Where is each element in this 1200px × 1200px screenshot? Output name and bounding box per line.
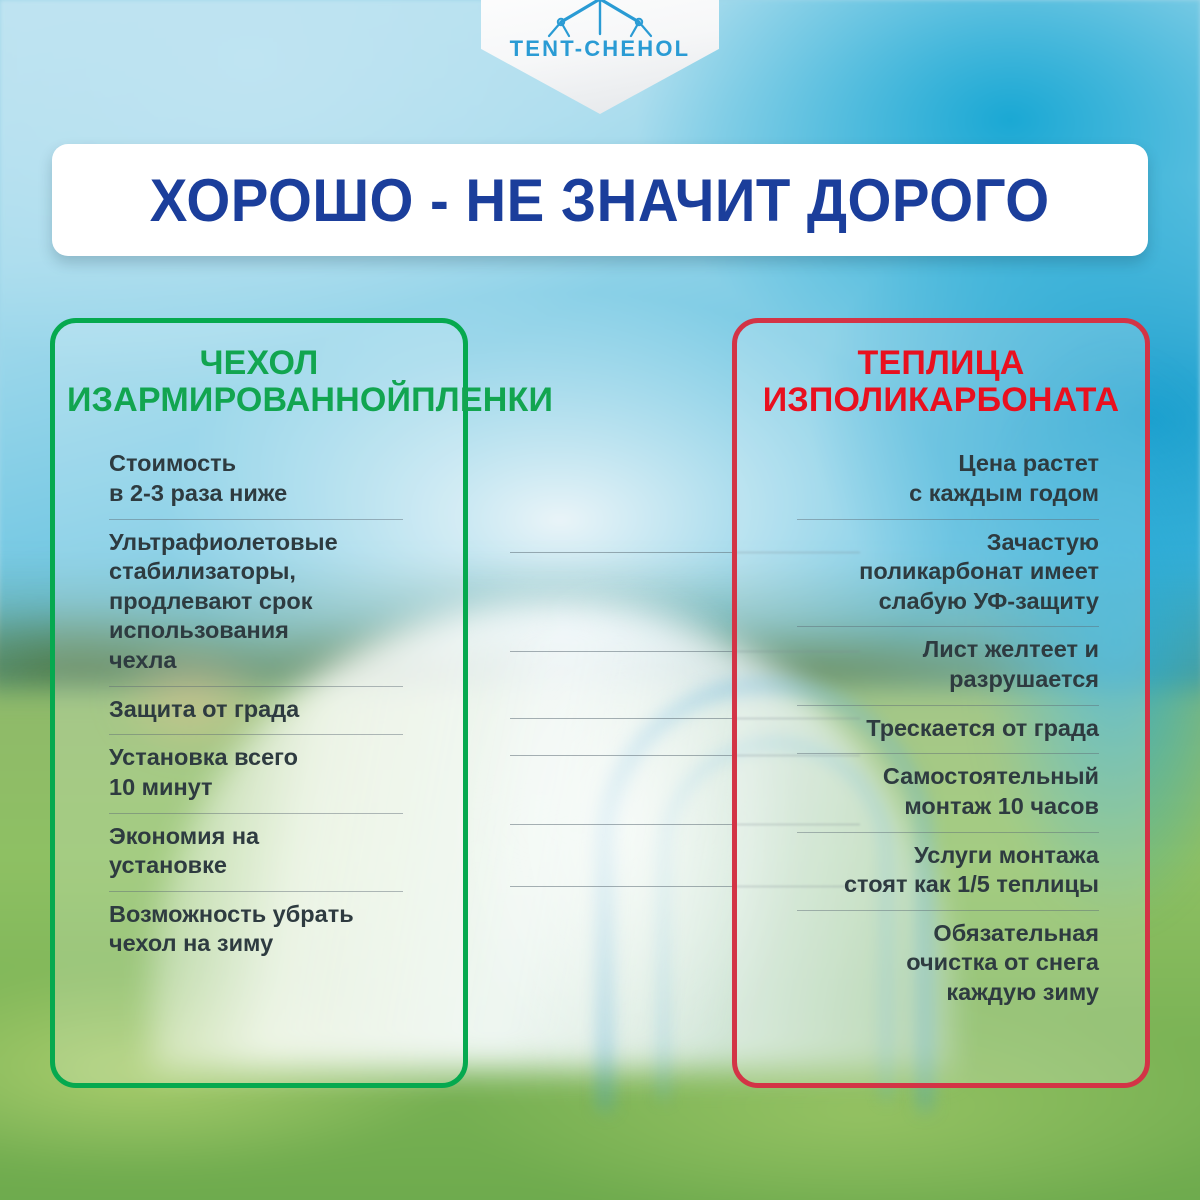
card-title-polycarbonate: ТЕПЛИЦА ИЗПОЛИКАРБОНАТА [737, 323, 1145, 418]
feature-item-line: Самостоятельный [763, 762, 1099, 792]
feature-item: Возможность убратьчехол на зиму [109, 891, 437, 969]
feature-item-line: в 2-3 раза ниже [109, 479, 437, 509]
feature-item-line: разрушается [763, 665, 1099, 695]
feature-item-line: Лист желтеет и [763, 635, 1099, 665]
feature-item-line: Установка всего [109, 743, 437, 773]
feature-item-line: Услуги монтажа [763, 841, 1099, 871]
feature-item: Ультрафиолетовыестабилизаторы,продлевают… [109, 519, 437, 686]
feature-item-line: стоят как 1/5 теплицы [763, 870, 1099, 900]
feature-item: Зачастуюполикарбонат имеетслабую УФ-защи… [763, 519, 1099, 627]
feature-item-line: Зачастую [763, 528, 1099, 558]
feature-item: Стоимостьв 2-3 раза ниже [109, 440, 437, 518]
feature-item-line: стабилизаторы, [109, 557, 437, 587]
feature-item: Обязательнаяочистка от снегакаждую зиму [763, 910, 1099, 1018]
feature-item-line: установке [109, 851, 437, 881]
feature-item: Услуги монтажастоят как 1/5 теплицы [763, 832, 1099, 910]
feature-item: Экономия наустановке [109, 813, 437, 891]
feature-item: Защита от града [109, 686, 437, 735]
card-title-line: ПОЛИКАРБОНАТА [809, 381, 1119, 419]
feature-item-line: очистка от снега [763, 948, 1099, 978]
feature-item-line: Трескается от града [763, 714, 1099, 744]
feature-item-line: каждую зиму [763, 978, 1099, 1008]
comparison-card-polycarbonate: ТЕПЛИЦА ИЗПОЛИКАРБОНАТА Цена растетс каж… [732, 318, 1150, 1088]
tent-icon [525, 0, 675, 36]
feature-item-line: Экономия на [109, 822, 437, 852]
feature-item-line: Возможность убрать [109, 900, 437, 930]
feature-item: Цена растетс каждым годом [763, 440, 1099, 518]
feature-item: Самостоятельныймонтаж 10 часов [763, 753, 1099, 831]
card-title-line: АРМИРОВАННОЙ [113, 381, 411, 419]
feature-item-line: использования [109, 616, 437, 646]
feature-item-line: Защита от града [109, 695, 437, 725]
feature-item: Трескается от града [763, 705, 1099, 754]
feature-item-line: чехла [109, 646, 437, 676]
feature-item-line: Ультрафиолетовые [109, 528, 437, 558]
feature-item-line: поликарбонат имеет [763, 557, 1099, 587]
headline-banner: ХОРОШО - НЕ ЗНАЧИТ ДОРОГО [52, 144, 1148, 256]
feature-item: Лист желтеет иразрушается [763, 626, 1099, 704]
page-title: ХОРОШО - НЕ ЗНАЧИТ ДОРОГО [150, 166, 1050, 235]
feature-item-line: с каждым годом [763, 479, 1099, 509]
feature-item-line: слабую УФ-защиту [763, 587, 1099, 617]
feature-item: Установка всего10 минут [109, 734, 437, 812]
feature-item-line: монтаж 10 часов [763, 792, 1099, 822]
card-title-line: ПЛЕНКИ [411, 381, 553, 419]
comparison-card-film-cover: ЧЕХОЛ ИЗАРМИРОВАННОЙПЛЕНКИ Стоимостьв 2-… [50, 318, 468, 1088]
card-title-film-cover: ЧЕХОЛ ИЗАРМИРОВАННОЙПЛЕНКИ [55, 323, 463, 418]
feature-item-line: 10 минут [109, 773, 437, 803]
feature-item-line: Стоимость [109, 449, 437, 479]
feature-item-line: продлевают срок [109, 587, 437, 617]
feature-item-line: Цена растет [763, 449, 1099, 479]
feature-item-line: чехол на зиму [109, 929, 437, 959]
feature-list-film-cover: Стоимостьв 2-3 раза нижеУльтрафиолетовые… [55, 440, 463, 969]
feature-item-line: Обязательная [763, 919, 1099, 949]
feature-list-polycarbonate: Цена растетс каждым годомЗачастуюполикар… [737, 440, 1145, 1017]
brand-logo-text: TENT-CHEHOL [510, 36, 691, 62]
